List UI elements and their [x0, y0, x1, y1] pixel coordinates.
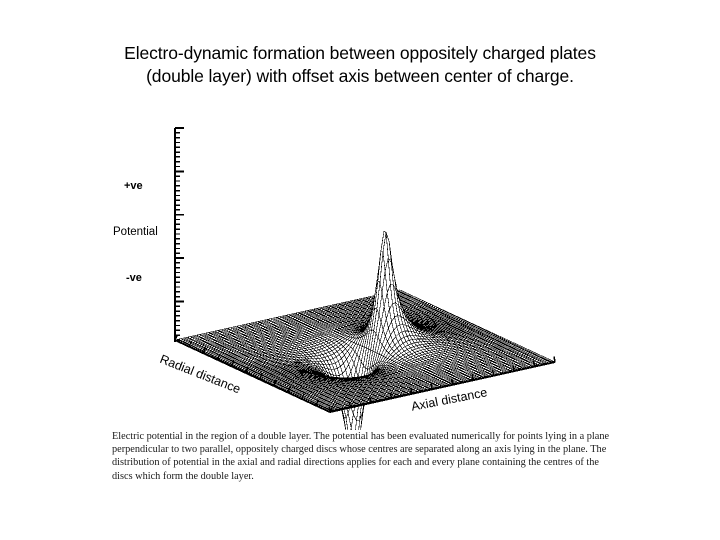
figure-caption: Electric potential in the region of a do…	[112, 430, 612, 483]
title-line-2: (double layer) with offset axis between …	[60, 65, 660, 88]
page-title: Electro-dynamic formation between opposi…	[60, 42, 660, 88]
slide-canvas: Electro-dynamic formation between opposi…	[0, 0, 720, 540]
title-line-1: Electro-dynamic formation between opposi…	[124, 43, 596, 63]
surface-plot-svg	[0, 110, 720, 430]
mesh-surface	[175, 231, 555, 430]
axis-label-potential: Potential	[113, 226, 158, 238]
axis-label-negative: -ve	[126, 272, 142, 284]
surface-plot-figure	[0, 110, 720, 430]
axis-label-positive: +ve	[124, 180, 143, 192]
